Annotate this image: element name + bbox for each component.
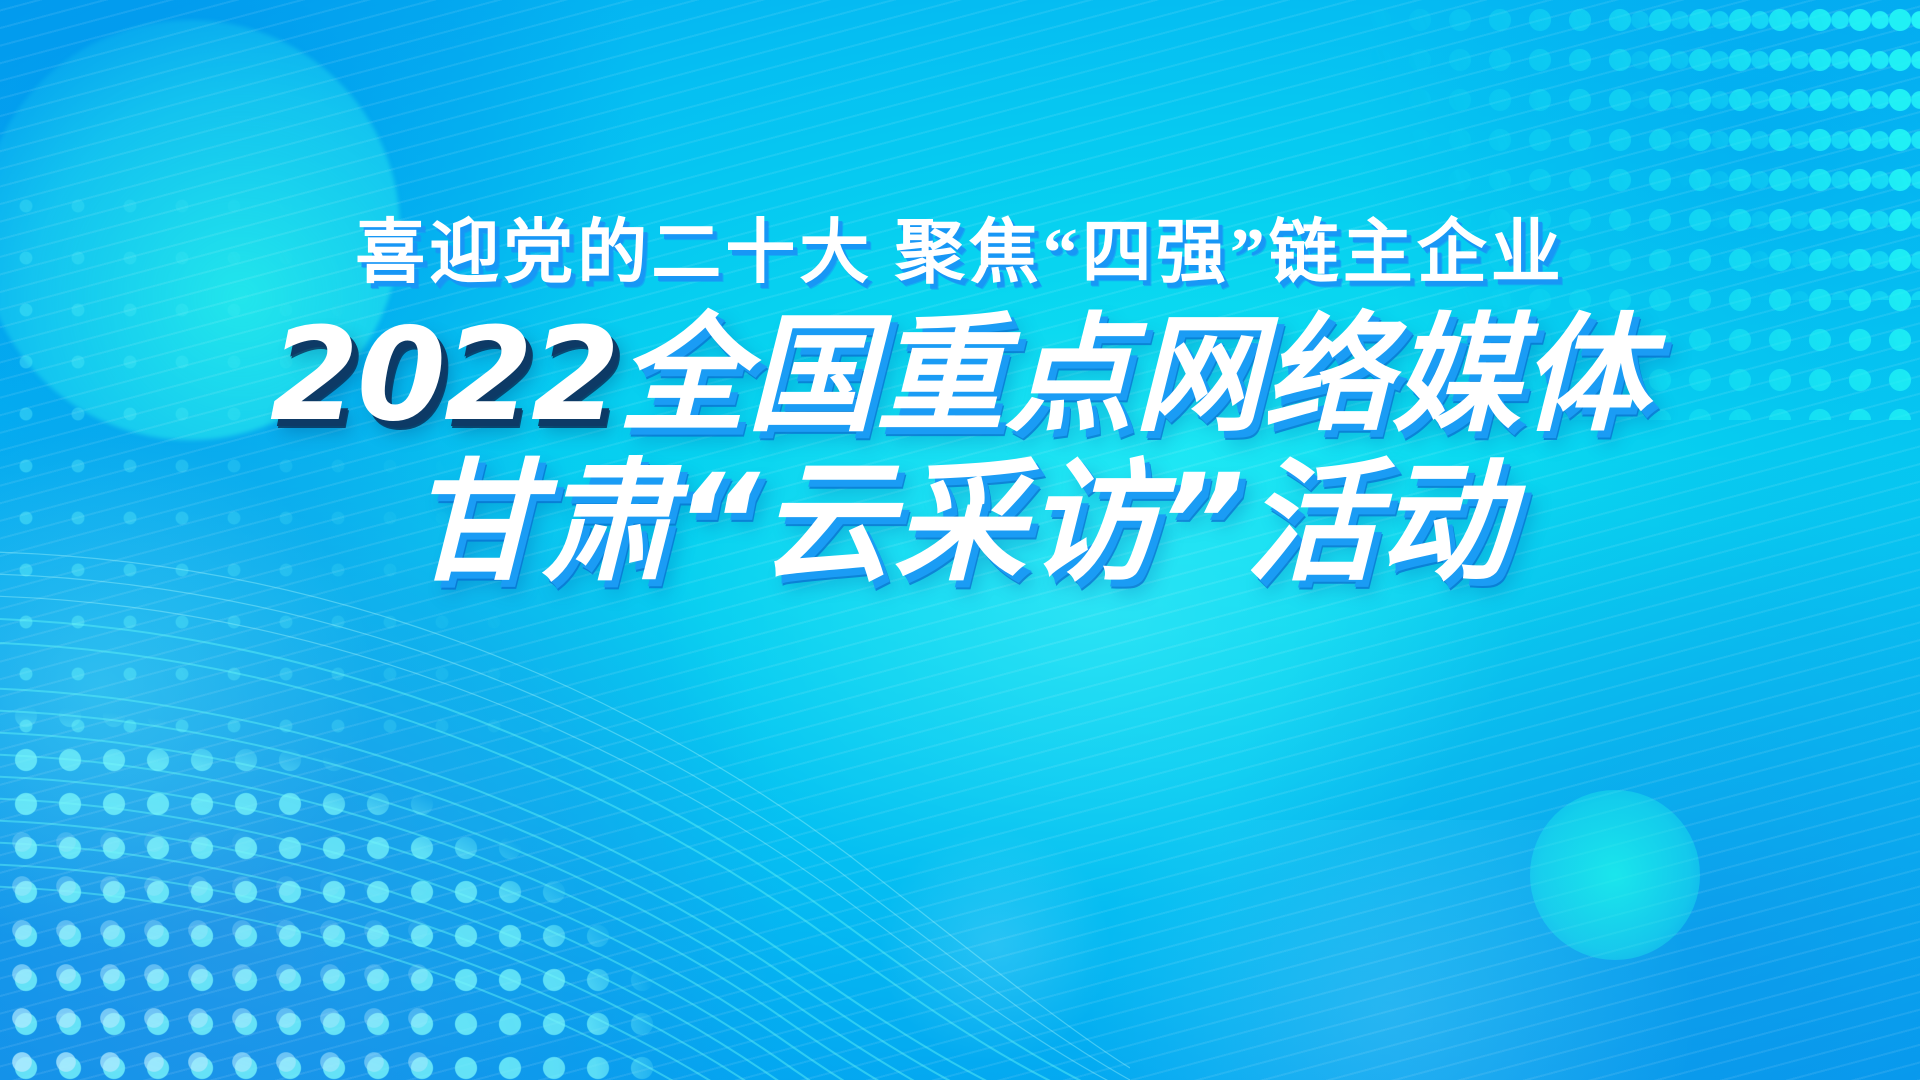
poster-title-line-2: 甘肃“云采访”活动 xyxy=(0,452,1920,595)
halftone-dots-bottom-left xyxy=(0,650,720,1080)
poster-title-line-1-text: 全国重点网络媒体 xyxy=(618,301,1650,450)
halftone-dots-bottom-left-light xyxy=(0,820,430,1080)
poster-text-block: 喜迎党的二十大 聚焦“四强”链主企业 2022全国重点网络媒体 甘肃“云采访”活… xyxy=(0,218,1920,594)
swoosh-line-bundle-icon xyxy=(0,520,1130,1080)
poster-title: 2022全国重点网络媒体 甘肃“云采访”活动 xyxy=(0,307,1920,594)
poster-title-line-1: 2022全国重点网络媒体 xyxy=(0,307,1920,445)
decorative-circle-bottom-center xyxy=(880,830,1110,1060)
poster-subtitle: 喜迎党的二十大 聚焦“四强”链主企业 xyxy=(0,218,1920,289)
poster-canvas: 喜迎党的二十大 聚焦“四强”链主企业 2022全国重点网络媒体 甘肃“云采访”活… xyxy=(0,0,1920,1080)
background-glow-bottom xyxy=(1080,820,1700,1080)
poster-title-year: 2022 xyxy=(270,301,618,450)
decorative-circle-bottom-right xyxy=(1530,790,1700,960)
